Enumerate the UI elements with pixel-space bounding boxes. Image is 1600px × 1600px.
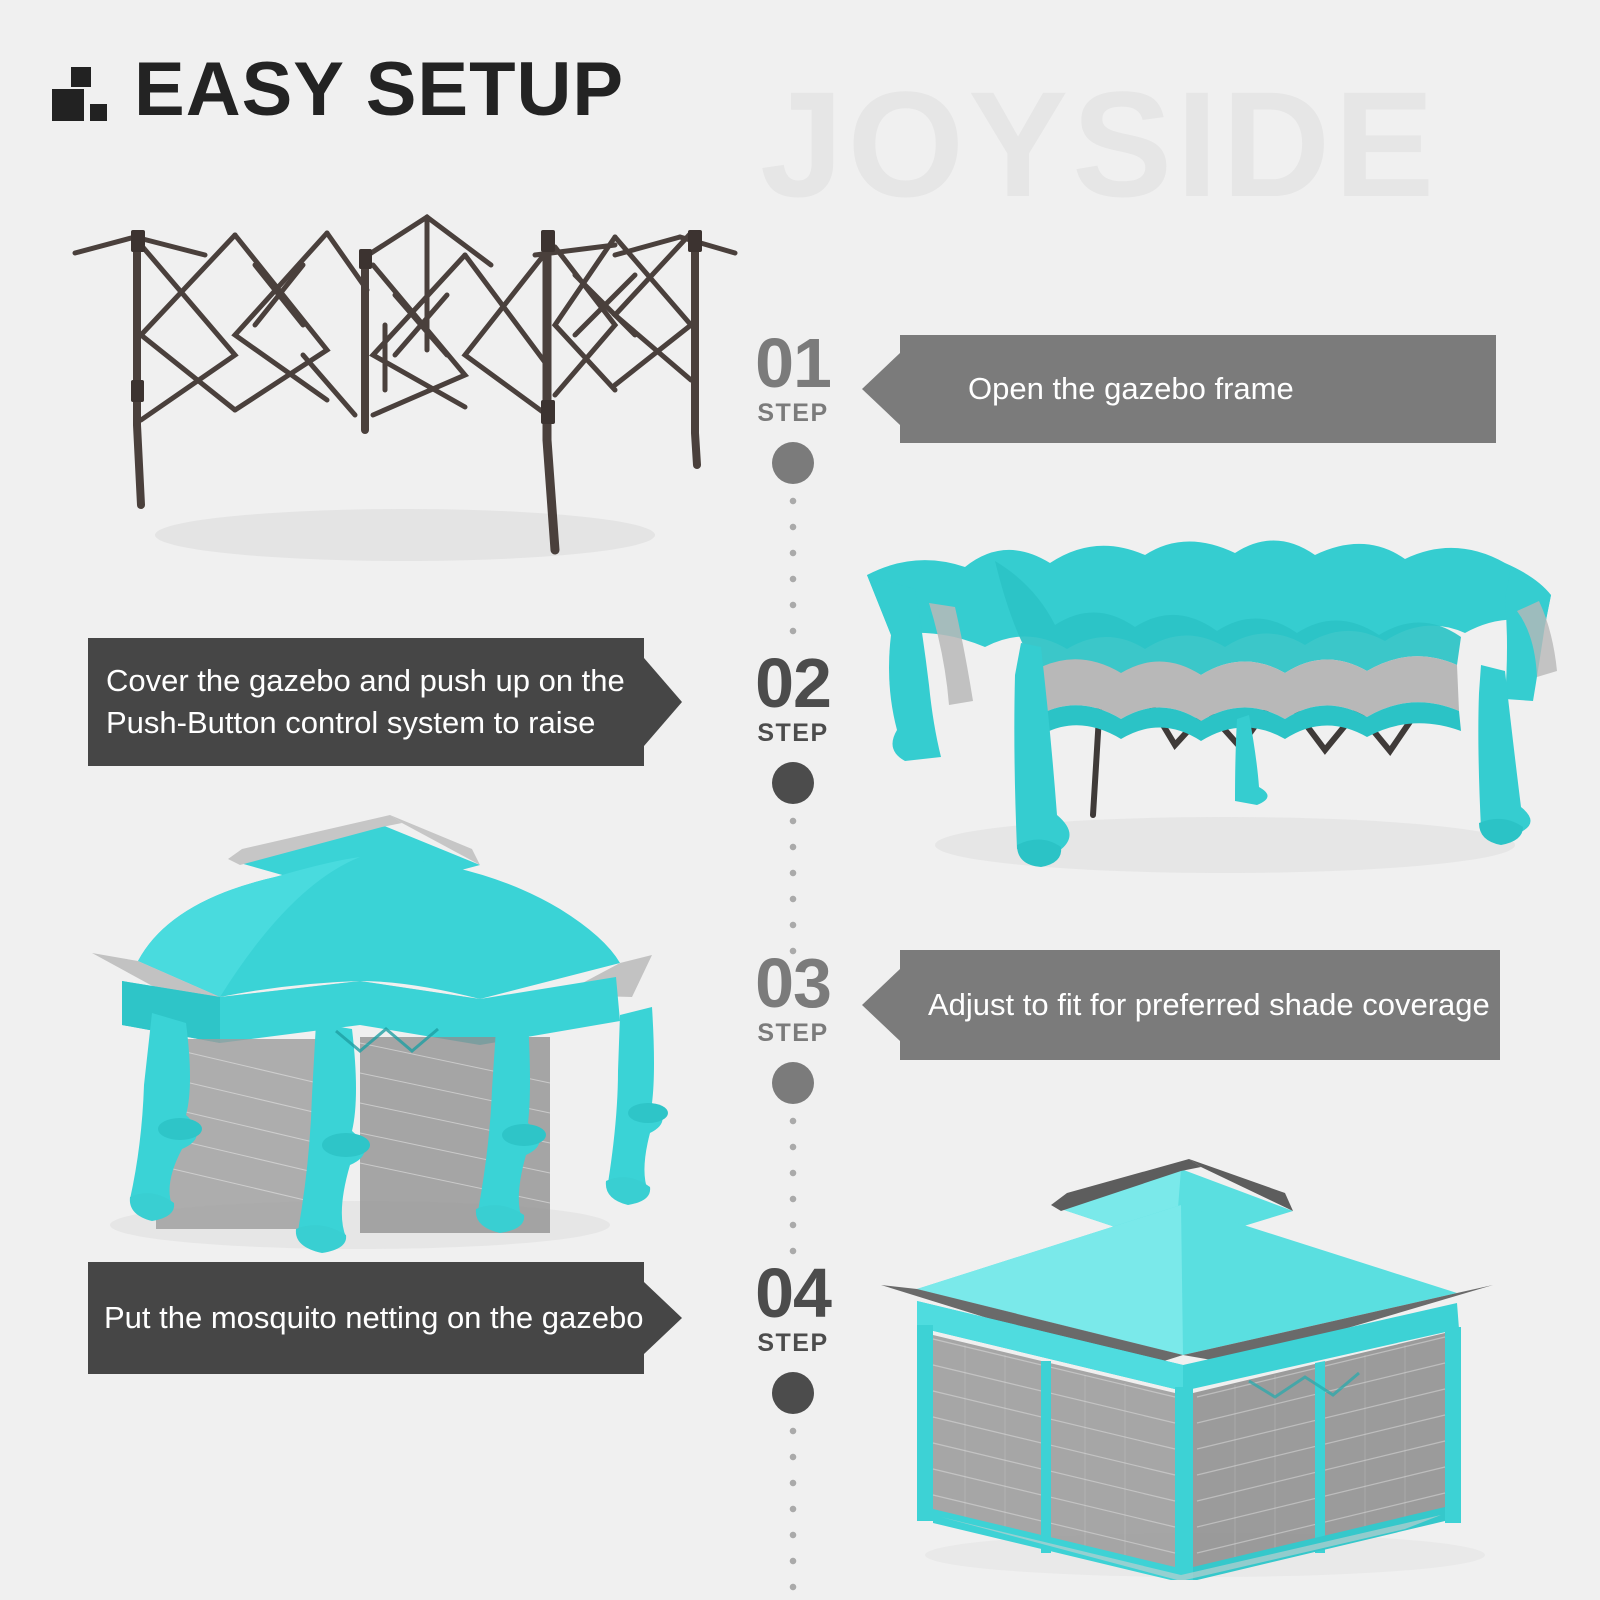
step-dot-03 bbox=[772, 1062, 814, 1104]
step-number-01: 01 bbox=[708, 330, 878, 397]
callout-text-02-line-2: Push-Button control system to raise bbox=[106, 702, 625, 744]
step-word-03: STEP bbox=[708, 1019, 878, 1048]
callout-arrow-right-02 bbox=[644, 658, 682, 746]
step-marker-03[interactable]: 03 STEP bbox=[708, 950, 878, 1104]
timeline-connector-2 bbox=[788, 790, 798, 966]
infographic-canvas: JOYSIDE EASY SETUP bbox=[0, 0, 1600, 1600]
photo-gazebo-canopy-draped bbox=[845, 515, 1560, 890]
callout-step-03: Adjust to fit for preferred shade covera… bbox=[900, 950, 1500, 1060]
callout-text-03: Adjust to fit for preferred shade covera… bbox=[900, 984, 1490, 1026]
timeline-connector-3 bbox=[788, 1090, 798, 1256]
callout-text-01: Open the gazebo frame bbox=[900, 368, 1294, 410]
callout-arrow-left-03 bbox=[862, 969, 900, 1041]
step-marker-01[interactable]: 01 STEP bbox=[708, 330, 878, 484]
timeline-connector-1 bbox=[788, 470, 798, 646]
step-dot-01 bbox=[772, 442, 814, 484]
callout-step-01: Open the gazebo frame bbox=[900, 335, 1496, 443]
callout-arrow-right-04 bbox=[644, 1282, 682, 1354]
step-word-01: STEP bbox=[708, 399, 878, 428]
three-squares-icon bbox=[52, 59, 108, 121]
callout-arrow-left-01 bbox=[862, 353, 900, 425]
step-number-03: 03 bbox=[708, 950, 878, 1017]
photo-gazebo-with-mosquito-netting bbox=[845, 1125, 1560, 1580]
callout-step-02: Cover the gazebo and push up on the Push… bbox=[88, 638, 644, 766]
photo-gazebo-frame-expanded bbox=[55, 175, 755, 575]
photo-gazebo-raised-with-curtains bbox=[60, 785, 680, 1255]
step-dot-02 bbox=[772, 762, 814, 804]
callout-step-04: Put the mosquito netting on the gazebo bbox=[88, 1262, 644, 1374]
page-header: EASY SETUP bbox=[52, 52, 624, 128]
step-dot-04 bbox=[772, 1372, 814, 1414]
timeline-connector-4 bbox=[788, 1400, 798, 1600]
callout-text-04: Put the mosquito netting on the gazebo bbox=[88, 1297, 643, 1339]
page-title: EASY SETUP bbox=[134, 52, 624, 128]
callout-text-02-line-1: Cover the gazebo and push up on the bbox=[106, 660, 625, 702]
